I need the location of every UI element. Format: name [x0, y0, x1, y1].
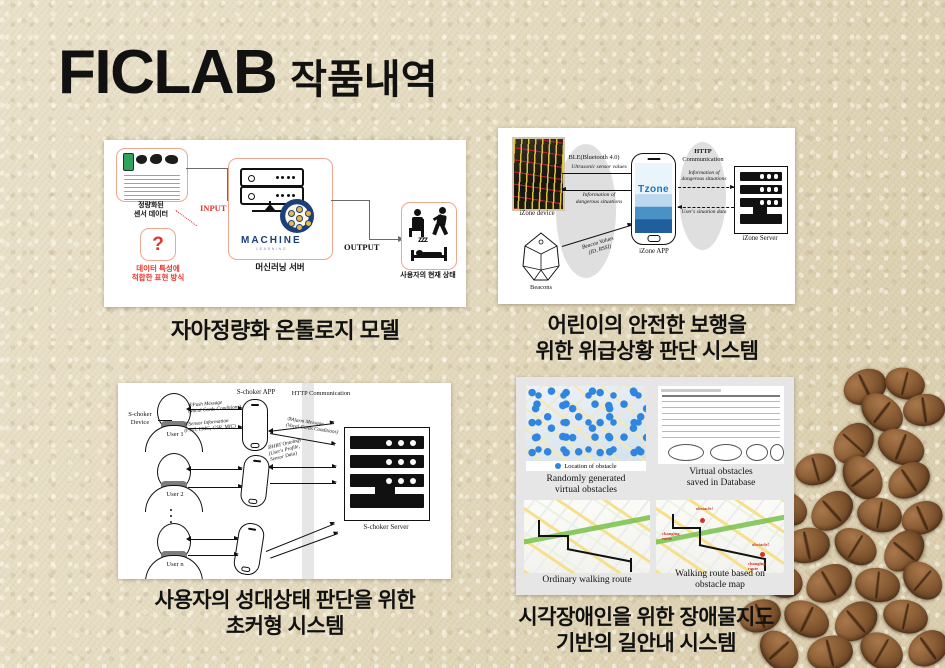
arrowhead-push-message-3	[186, 536, 191, 542]
page-subtitle: 작품내역	[290, 60, 437, 100]
s-choker-app-phone	[239, 454, 270, 508]
output-label: OUTPUT	[344, 242, 379, 252]
table-row	[662, 413, 780, 414]
sleep-zzz-label: zzz	[418, 235, 427, 244]
arrow-danger-info-to-server	[678, 187, 734, 188]
server-rack-led	[760, 187, 765, 192]
server-rack-led	[767, 200, 772, 205]
server-rack-led	[386, 478, 392, 484]
ml-server-label: 머신러닝 서버	[234, 262, 326, 273]
flow-danger-info-line1: Information of	[560, 192, 638, 199]
server-rack-bar	[740, 198, 782, 207]
coffee-bean	[827, 593, 885, 649]
izone-server-label: iZone Server	[728, 235, 792, 243]
ml-node	[296, 206, 303, 213]
server-rack-led	[410, 478, 416, 484]
server-rack-base	[740, 214, 782, 224]
flow-danger-info-line2: dangerous situations	[560, 199, 638, 206]
tile-caption-line1: Virtual obstacles	[656, 467, 786, 478]
table-row	[662, 425, 780, 426]
s-choker-server-icon	[344, 427, 430, 521]
user-figure	[146, 523, 202, 579]
coffee-bean	[825, 415, 881, 472]
coffee-bean	[854, 385, 911, 439]
user-label: User 2	[152, 491, 198, 499]
coffee-bean	[901, 391, 945, 429]
reroute-annotation: changingroute	[662, 532, 680, 542]
route-path-segment	[630, 558, 632, 572]
tile-caption-line2: saved in Database	[656, 478, 786, 489]
caption-izone-line1: 어린이의 안전한 보행을	[488, 313, 806, 339]
obstacle-based-walking-route-map[interactable]: obstacle! changingroute obstacle! changi…	[656, 500, 784, 573]
s-choker-app-phone	[232, 521, 266, 576]
green-corridor	[524, 514, 650, 546]
obstacle-marker	[760, 552, 765, 557]
route-path-segment	[567, 548, 632, 562]
ml-node	[296, 224, 303, 231]
arrow-user-situation-data	[678, 207, 734, 208]
coffee-bean	[880, 596, 931, 638]
tile-caption-line2: virtual obstacles	[520, 485, 652, 496]
http-label-line2: Communication	[674, 156, 732, 164]
wire-server-to-output	[331, 200, 370, 201]
page-title: FICLAB 작품내역	[58, 42, 438, 104]
phone-speaker	[647, 158, 660, 160]
s-choker-server-label: S-choker Server	[344, 523, 428, 531]
beacon-shape-svg	[521, 232, 561, 282]
server-rack-led	[386, 440, 392, 446]
phone-speaker	[251, 404, 259, 406]
obstacle-database-table[interactable]	[658, 386, 784, 464]
ml-node	[288, 210, 295, 217]
sensor-data-box	[116, 148, 188, 202]
obstacle-distribution-map[interactable]: Location of obstacle	[526, 386, 646, 471]
user-label: User n	[152, 561, 198, 569]
server-rack-led	[774, 187, 779, 192]
arrow-push-message	[188, 539, 238, 540]
izone-app-phone: Tzone	[631, 153, 676, 245]
arrow-alarm-message-2	[270, 467, 336, 468]
caption-s-choker: 사용자의 성대상태 판단을 위한 초커형 시스템	[98, 588, 472, 639]
machine-learning-logo-icon	[280, 199, 314, 233]
project-figure-s-choker[interactable]: User 1 S-choker Device User 2 User n	[118, 383, 451, 579]
project-figure-obstacle-map[interactable]: Location of obstacle Randomly generated …	[516, 377, 794, 595]
coffee-bean	[896, 495, 945, 541]
tile-caption-saved-obstacles: Virtual obstacles saved in Database	[656, 467, 786, 490]
db-toolbar	[661, 389, 721, 392]
tile-caption-line1: Randomly generated	[520, 474, 652, 485]
ellipsis-dot	[170, 509, 172, 511]
ml-node	[305, 210, 312, 217]
question-mark: ?	[141, 234, 175, 256]
phone-home-button[interactable]	[241, 566, 251, 572]
phone-speaker	[253, 459, 261, 462]
server-rack-led	[410, 440, 416, 446]
phone-home-button[interactable]	[248, 498, 257, 504]
phone-home-button[interactable]	[251, 443, 260, 448]
wire-sensor-to-server	[186, 168, 228, 169]
route-path-segment	[672, 514, 674, 528]
route-path-segment	[538, 535, 568, 537]
brand-title: FICLAB	[58, 42, 276, 104]
caption-izone-line2: 위한 위급상황 판단 시스템	[488, 339, 806, 365]
caption-s-choker-line2: 초커형 시스템	[98, 614, 472, 640]
http-communication-label: HTTP Communication	[278, 390, 364, 398]
server-rack-led	[398, 440, 404, 446]
db-table-header	[662, 395, 780, 397]
tile-caption-obstacle-route: Walking route based on obstacle map	[652, 569, 788, 592]
ml-node	[296, 215, 303, 222]
flow-hbt-ontology-label: ②HBT Ontology (User's Profile, Sensor Da…	[267, 431, 330, 463]
server-rack-led	[774, 200, 779, 205]
table-row	[662, 407, 780, 408]
ml-logo-wordmark: MACHINE	[241, 235, 302, 246]
flow-user-situation-label: User's situation data	[674, 209, 734, 215]
coffee-bean	[834, 448, 891, 507]
wire-server-to-output-vert	[369, 200, 370, 240]
http-label-line1: HTTP	[674, 148, 732, 156]
db-flow-ellipse	[770, 444, 784, 461]
server-rack-bar	[740, 172, 782, 181]
tile-caption-ordinary-route: Ordinary walking route	[518, 575, 656, 586]
arrow-danger-info-to-device	[562, 190, 635, 191]
server-rack-led	[398, 478, 404, 484]
s-choker-device-line1: S-choker	[118, 411, 162, 419]
db-flow-ellipse	[746, 444, 768, 461]
izone-device-photo	[512, 137, 565, 211]
arrow-push-message	[188, 469, 242, 470]
ble-label: BLE(Bluetooth 4.0)	[554, 154, 634, 162]
server-rack-bar	[740, 185, 782, 194]
coffee-bean	[854, 625, 910, 668]
server-rack-bar	[350, 455, 424, 468]
obstacle-marker	[700, 518, 705, 523]
arrow-sensor-information	[188, 555, 238, 556]
coffee-bean	[901, 623, 945, 668]
sensor-data-lines	[124, 175, 180, 203]
arrow-ultrasonic-values	[562, 173, 635, 174]
s-choker-device-line2: Device	[118, 419, 162, 427]
user-figure	[146, 453, 202, 511]
db-flow-ellipse	[668, 444, 704, 461]
route-path-segment	[672, 527, 700, 529]
caption-s-choker-line1: 사용자의 성대상태 판단을 위한	[98, 588, 472, 614]
s-choker-device-label: S-choker Device	[118, 411, 162, 426]
question-box: ?	[140, 228, 176, 261]
question-label-line1: 데이터 특성에	[118, 264, 198, 273]
table-row	[662, 437, 780, 438]
obstacle-marker-icon	[555, 463, 561, 469]
caption-obstacle-line1: 시각장애인을 위한 장애물지도	[478, 605, 814, 631]
coffee-bean	[854, 494, 904, 535]
sleeping-person-icon	[411, 245, 447, 261]
http-communication-label: HTTP Communication	[674, 148, 732, 163]
db-flow-ellipse	[710, 444, 742, 461]
map-legend-label: Location of obstacle	[564, 463, 616, 470]
question-label-line2: 적합한 표현 방식	[118, 273, 198, 282]
coffee-bean	[872, 422, 929, 472]
server-rack-base	[350, 494, 424, 508]
server-rack-led	[760, 174, 765, 179]
phone-home-button[interactable]	[647, 235, 660, 242]
flow-server-danger-label: Information of dangerous situations	[674, 170, 734, 183]
phone-speaker	[248, 527, 256, 530]
server-rack-led	[398, 459, 404, 465]
coffee-bean	[876, 522, 932, 579]
izone-server-icon	[734, 166, 788, 234]
ellipsis-dot	[170, 515, 172, 517]
map-legend: Location of obstacle	[526, 461, 646, 471]
ml-node	[288, 220, 295, 227]
arrowhead-push-message-2	[186, 466, 191, 472]
tile-caption-line1: Ordinary walking route	[518, 575, 656, 586]
izone-device-label: iZone device	[503, 210, 571, 218]
flow-danger-info-label: Information of dangerous situations	[560, 192, 638, 205]
server-unit	[240, 168, 304, 187]
phone-screen	[635, 163, 672, 233]
arrow-hbt-ontology-2	[270, 483, 336, 484]
leader-line-device	[158, 420, 172, 421]
sensor-data-label-line1: 정량화된	[108, 202, 194, 211]
coffee-bean	[853, 566, 901, 605]
coffee-bean	[804, 483, 861, 539]
table-row	[662, 431, 780, 432]
flow-server-danger-line2: dangerous situations	[674, 176, 734, 182]
table-row	[662, 419, 780, 420]
caption-self-quantification-ontology: 자아정량화 온톨로지 모델	[104, 318, 466, 345]
arrowhead-alarm-2	[268, 464, 273, 470]
obstacle-annotation: obstacle!	[752, 542, 769, 547]
coffee-bean	[882, 364, 928, 404]
server-dashes	[276, 194, 296, 197]
tile-caption-line2: obstacle map	[652, 580, 788, 591]
server-rack-led	[410, 459, 416, 465]
project-figure-self-quantification-ontology[interactable]: 정량화된 센서 데이터 INPUT ? 데이터 특성에 적합한 표현 방식	[104, 140, 466, 307]
coffee-bean	[828, 521, 884, 573]
izone-app-wordmark: Tzone	[638, 184, 669, 195]
user-state-label: 사용자의 현재 상태	[390, 272, 466, 281]
vertical-separator-band	[302, 383, 314, 579]
izone-app-label: iZone APP	[624, 248, 684, 256]
coffee-bean	[799, 556, 858, 610]
user-state-box: zzz	[401, 202, 457, 270]
tile-caption-random-obstacles: Randomly generated virtual obstacles	[520, 474, 652, 497]
ml-node	[305, 220, 312, 227]
server-rack-bar	[350, 436, 424, 449]
caption-obstacle-line2: 기반의 길안내 시스템	[478, 631, 814, 657]
coffee-bean	[792, 449, 840, 490]
flow-ultrasonic-label: Ultrasonic sensor values	[560, 164, 638, 171]
caption-izone-child-safety: 어린이의 안전한 보행을 위한 위급상황 판단 시스템	[488, 313, 806, 364]
server-led	[248, 175, 255, 182]
coffee-bean	[882, 455, 937, 507]
server-rack-led	[767, 174, 772, 179]
server-stand-tri	[264, 204, 276, 211]
arrow-sensor-information	[188, 487, 242, 488]
server-dashes	[276, 176, 296, 179]
route-path-segment	[699, 527, 701, 545]
coffee-bean	[838, 362, 892, 412]
server-rack-led	[386, 459, 392, 465]
beacon-icon	[521, 232, 561, 282]
server-rack-led	[767, 187, 772, 192]
obstacle-annotation: obstacle!	[696, 506, 713, 511]
ordinary-walking-route-map[interactable]	[524, 500, 650, 573]
route-path-segment	[567, 535, 569, 549]
caption-obstacle-map: 시각장애인을 위한 장애물지도 기반의 길안내 시스템	[478, 605, 814, 656]
route-path-segment	[538, 520, 540, 536]
table-row	[662, 401, 780, 402]
wire-output-arrow	[369, 239, 401, 240]
question-label: 데이터 특성에 적합한 표현 방식	[118, 264, 198, 283]
server-rack-led	[760, 200, 765, 205]
input-label: INPUT	[200, 203, 226, 213]
ml-logo-sub-wordmark: LEARNING	[256, 247, 287, 251]
beacon-label: Beacons	[512, 284, 570, 292]
tile-caption-line1: Walking route based on	[652, 569, 788, 580]
coffee-bean	[895, 554, 945, 607]
project-figure-izone-child-safety[interactable]: iZone device Beacons BLE(Bluetooth 4.0) …	[498, 128, 795, 304]
presentation-slide: FICLAB 작품내역 정량화된 센서 데이터 INPUT ? 데이터	[0, 0, 945, 668]
server-led	[248, 193, 255, 200]
server-rack-led	[774, 174, 779, 179]
